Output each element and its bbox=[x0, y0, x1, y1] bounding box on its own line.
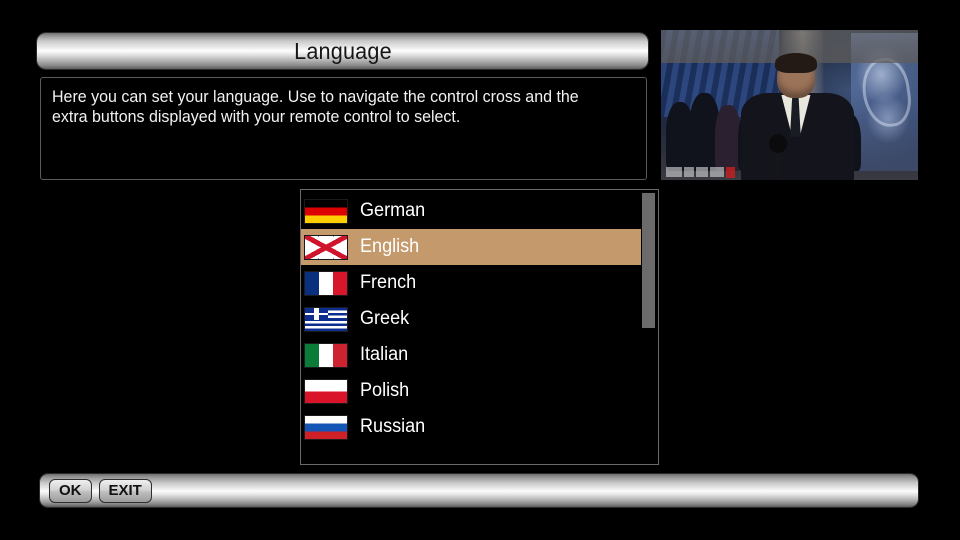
list-item[interactable]: French bbox=[301, 265, 641, 301]
video-subject-hair bbox=[775, 53, 818, 73]
flag-italy-icon bbox=[304, 343, 348, 368]
list-item-label: French bbox=[360, 272, 416, 294]
ok-button-label: OK bbox=[59, 482, 82, 499]
list-item-label: Russian bbox=[360, 416, 425, 438]
list-item-label: German bbox=[360, 200, 425, 222]
flag-greece-icon bbox=[304, 307, 348, 332]
flag-russia-icon bbox=[304, 415, 348, 440]
scrollbar-thumb[interactable] bbox=[642, 193, 655, 328]
language-list-rows: German English French Greek Italian Poli bbox=[301, 193, 641, 445]
osd-screen: Language Here you can set your language.… bbox=[0, 0, 960, 540]
title-bar: Language bbox=[37, 33, 648, 69]
video-preview[interactable] bbox=[661, 30, 918, 180]
list-item-label: Italian bbox=[360, 344, 408, 366]
list-item-label: Polish bbox=[360, 380, 409, 402]
flag-germany-icon bbox=[304, 199, 348, 224]
flag-united-kingdom-icon bbox=[304, 235, 348, 260]
exit-button-label: EXIT bbox=[109, 482, 142, 499]
list-item[interactable]: German bbox=[301, 193, 641, 229]
description-panel: Here you can set your language. Use to n… bbox=[40, 77, 647, 180]
news-channel-logo bbox=[666, 166, 774, 178]
list-item[interactable]: Russian bbox=[301, 409, 641, 445]
video-microphone bbox=[769, 134, 787, 154]
description-text: Here you can set your language. Use to n… bbox=[52, 87, 618, 127]
list-item-label: Greek bbox=[360, 308, 409, 330]
exit-button[interactable]: EXIT bbox=[99, 479, 152, 503]
list-item[interactable]: Polish bbox=[301, 373, 641, 409]
ok-button[interactable]: OK bbox=[49, 479, 92, 503]
list-item[interactable]: English bbox=[301, 229, 641, 265]
flag-poland-icon bbox=[304, 379, 348, 404]
softkey-bar: OK EXIT bbox=[40, 474, 918, 507]
list-item[interactable]: Greek bbox=[301, 301, 641, 337]
video-microphone-stem bbox=[775, 149, 781, 181]
page-title: Language bbox=[294, 38, 392, 65]
video-crowd-person bbox=[715, 105, 741, 171]
list-item[interactable]: Italian bbox=[301, 337, 641, 373]
flag-france-icon bbox=[304, 271, 348, 296]
list-item-label: English bbox=[360, 236, 419, 258]
language-list[interactable]: German English French Greek Italian Poli bbox=[300, 189, 659, 465]
